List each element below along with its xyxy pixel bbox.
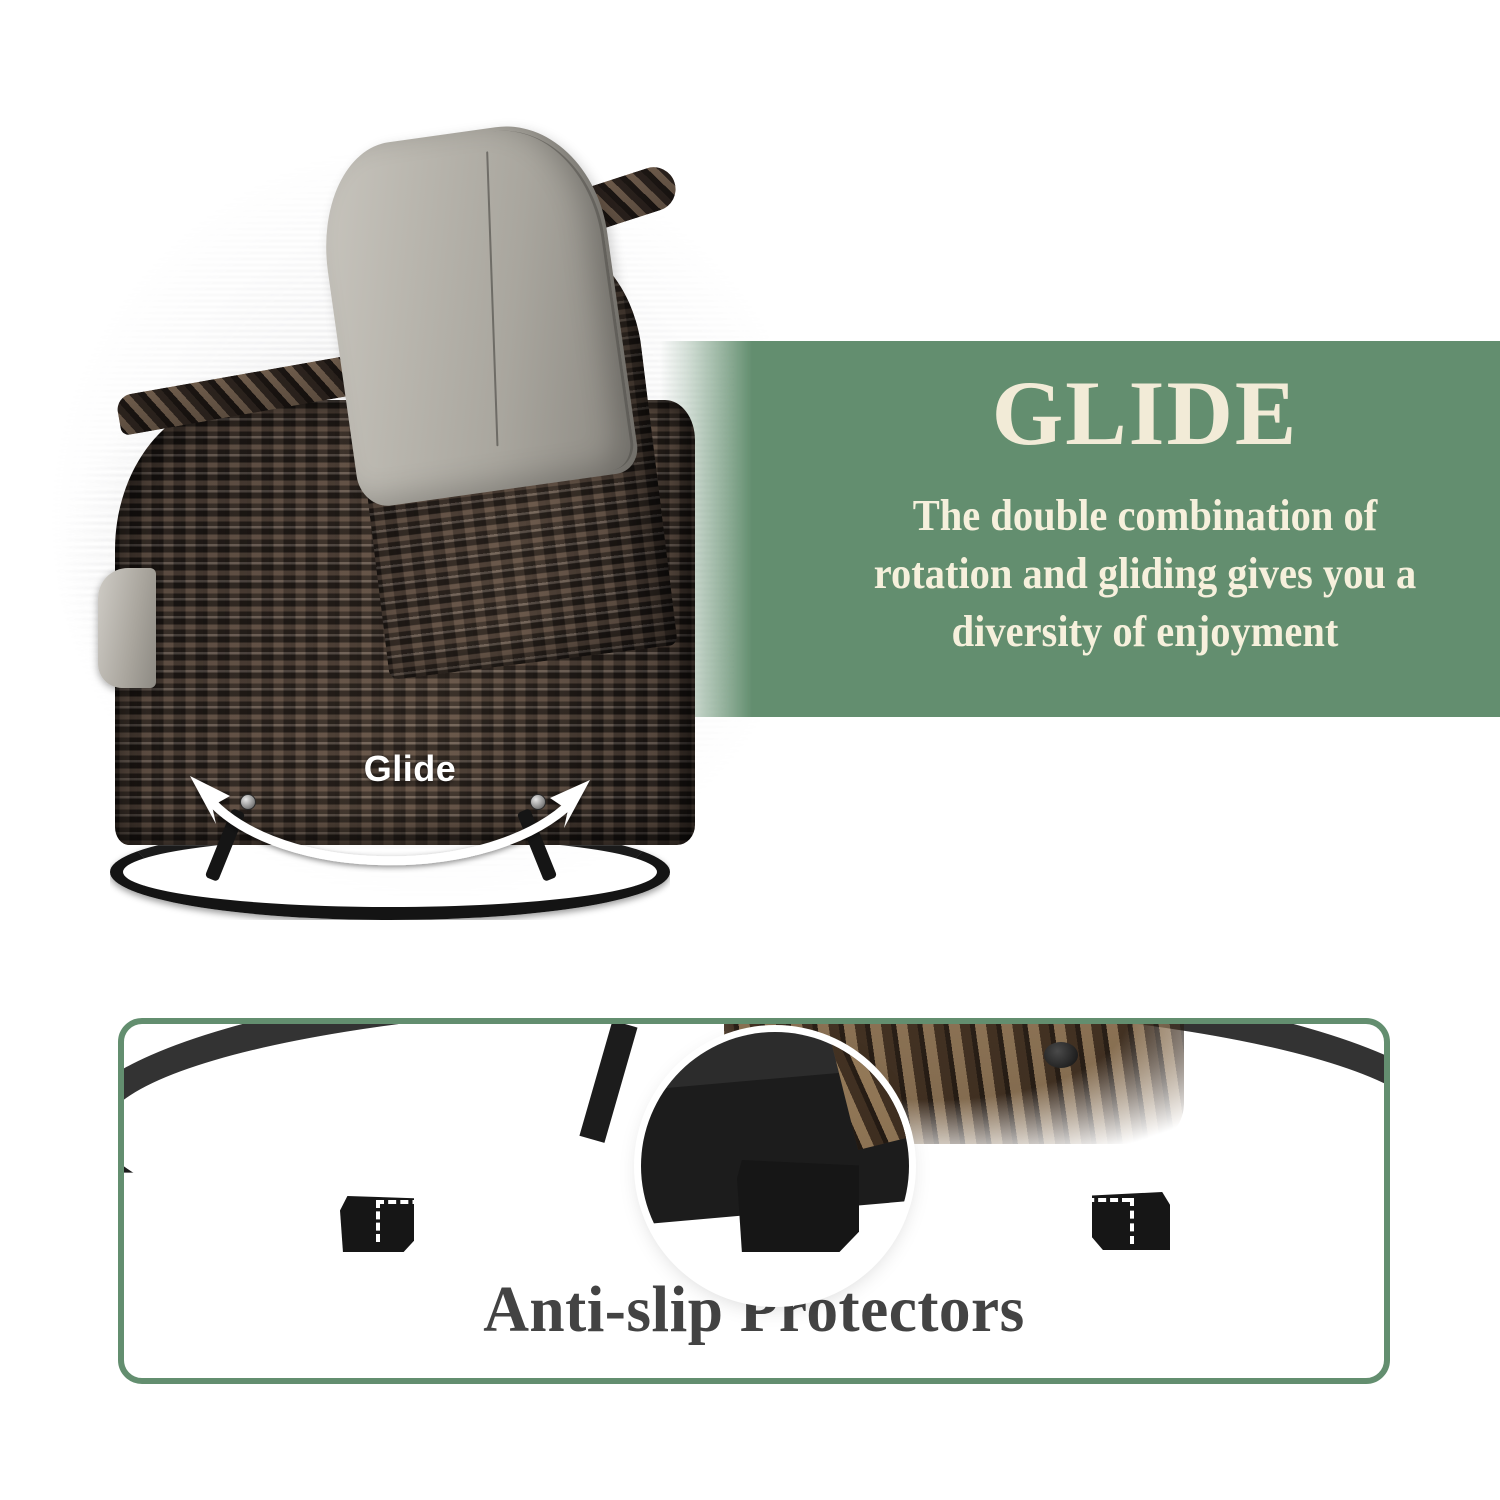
dashed-callout-line-left-vertical [376,1200,380,1242]
glide-feature-section: GLIDE The double combination of rotation… [0,0,1500,990]
magnified-anti-slip-protector [737,1160,859,1252]
glide-annotation-label: Glide [320,748,500,790]
glide-text-panel-inner: GLIDE The double combination of rotation… [790,341,1500,717]
swivel-glider-chair-image: Glide [60,110,800,920]
chair-back-cushion [311,114,640,510]
glide-title: GLIDE [992,367,1299,459]
glide-motion-annotation: Glide [160,740,620,900]
dashed-callout-line-right-vertical [1130,1198,1134,1244]
glide-description: The double combination of rotation and g… [851,487,1440,661]
seat-cushion-edge [98,568,156,688]
dashed-callout-line-left-horizontal [376,1200,676,1204]
wicker-hardware-knob-icon [1044,1042,1078,1068]
magnifier-circle-icon [641,1032,909,1300]
